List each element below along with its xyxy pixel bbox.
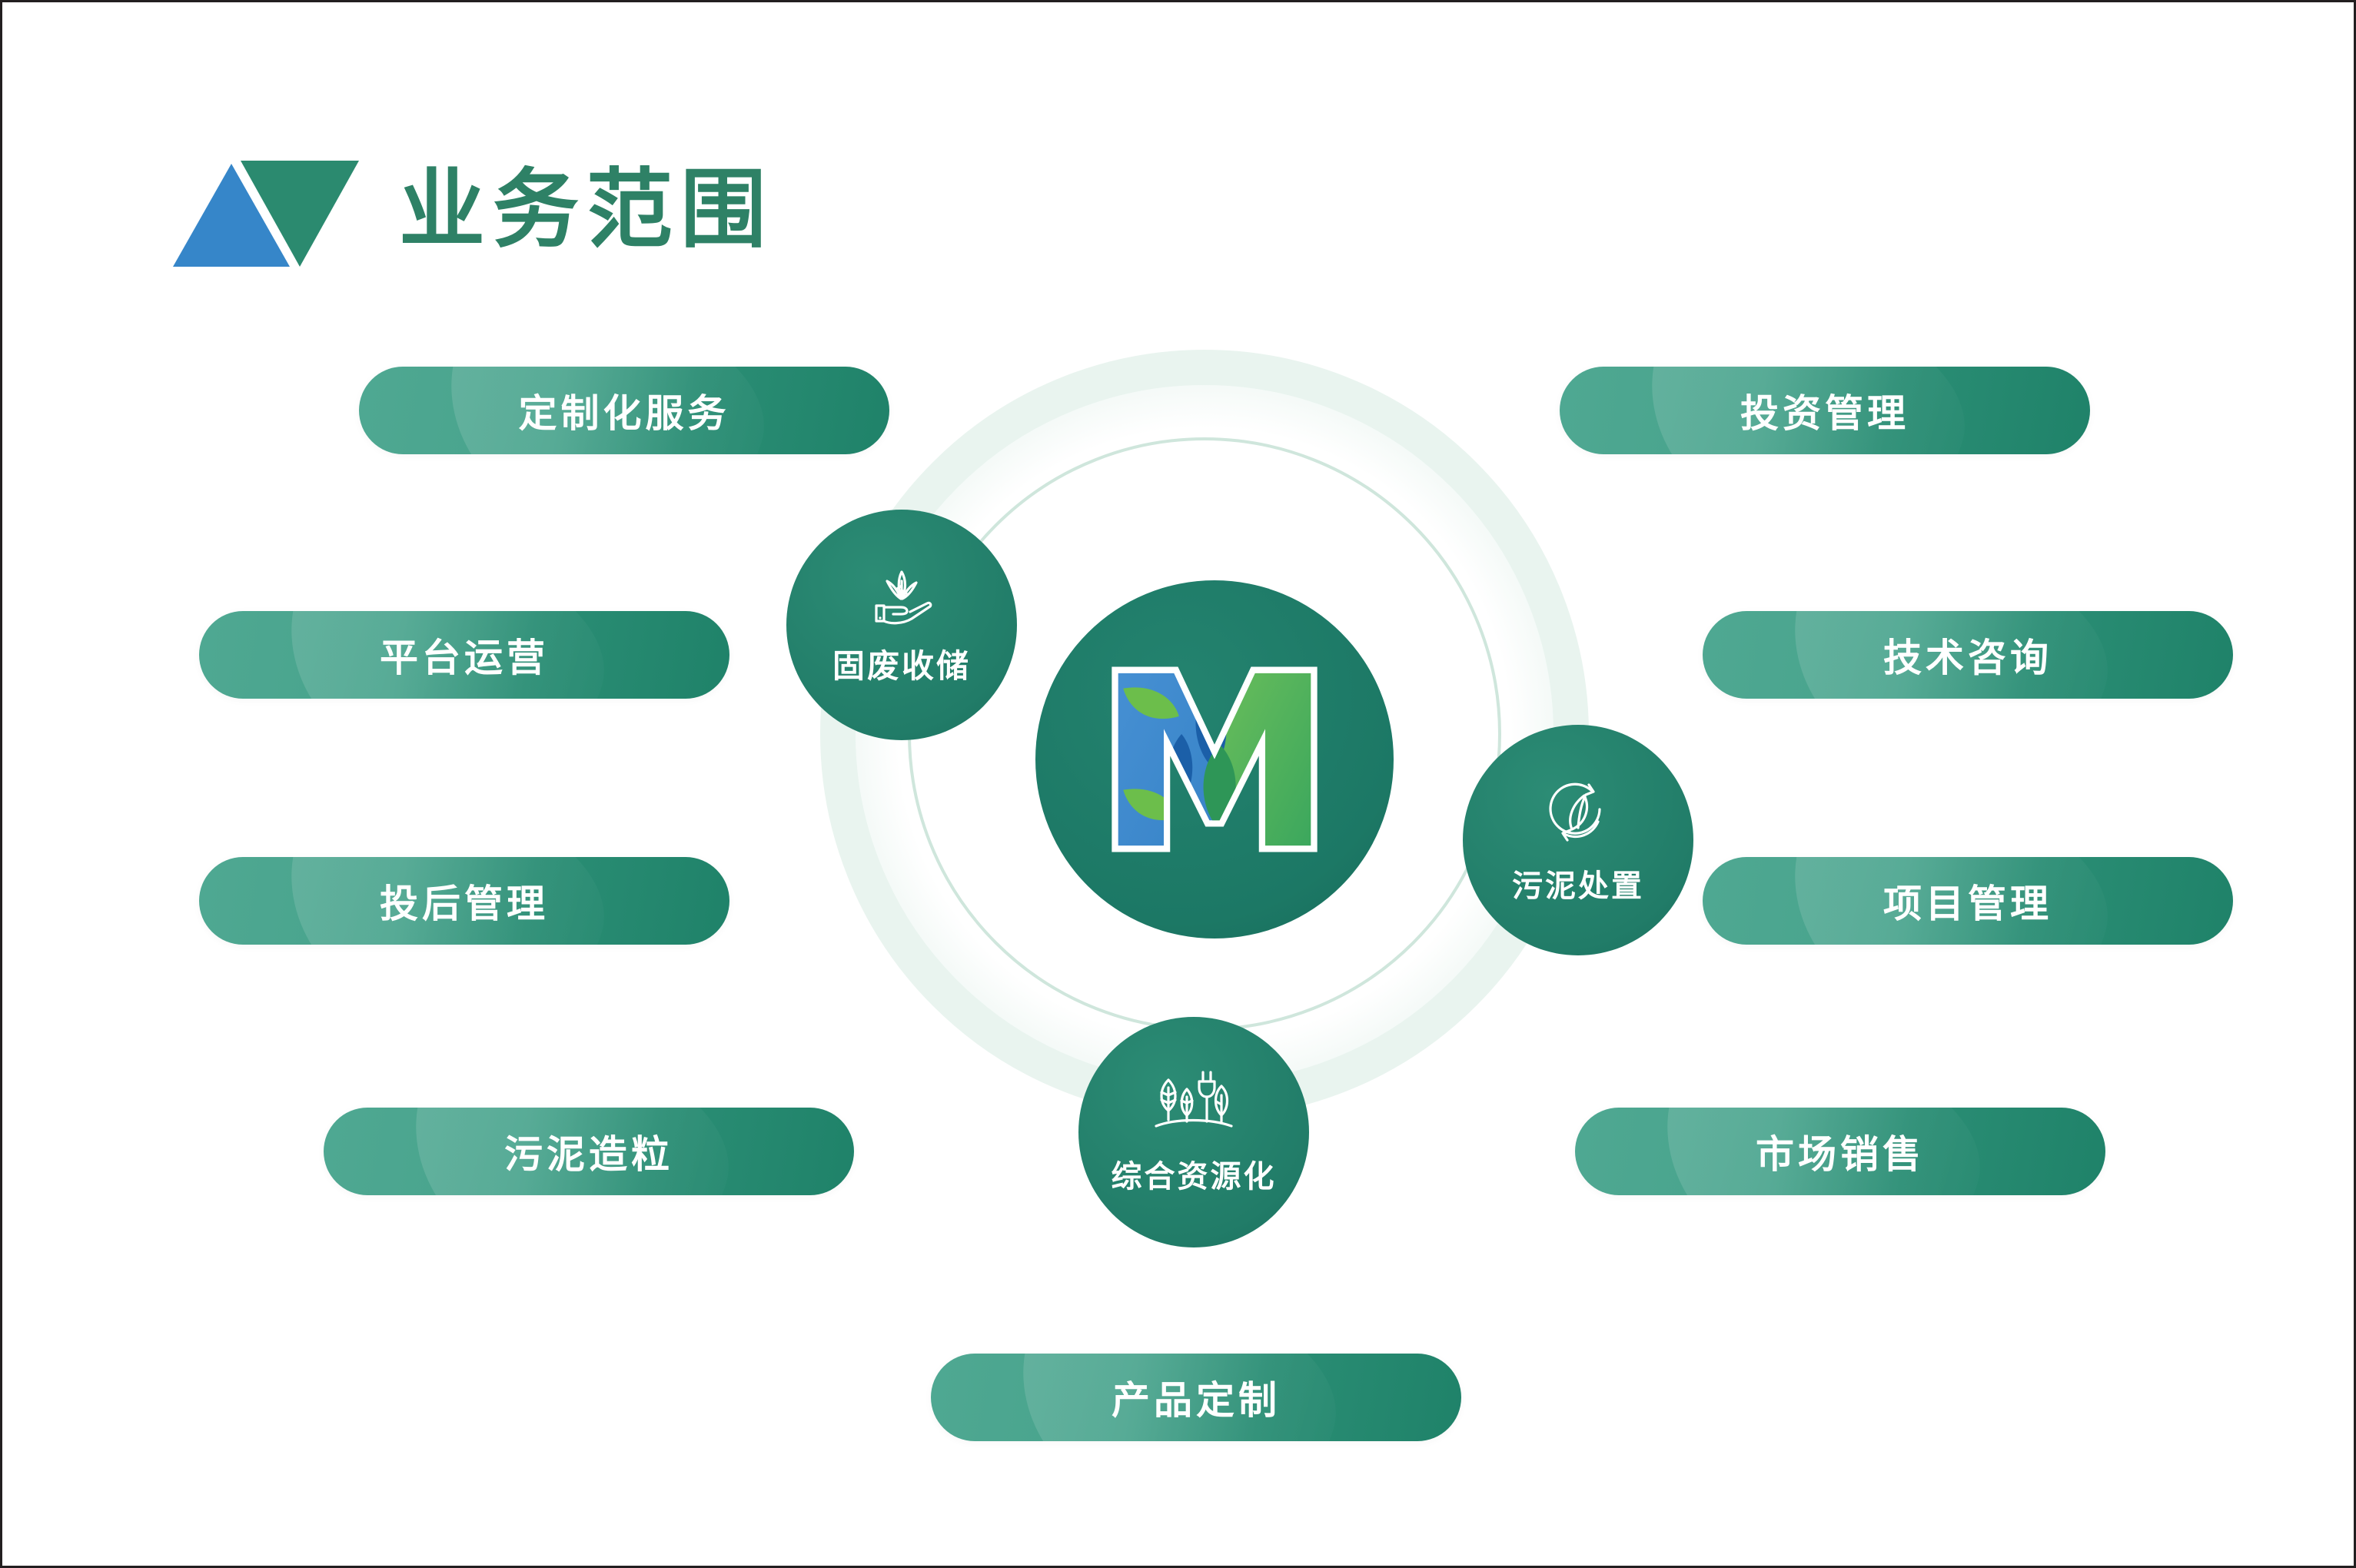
node-resource[interactable]: 综合资源化 (1078, 1017, 1309, 1247)
m-leaf-logo-icon (1088, 633, 1341, 886)
pill-platform-operation[interactable]: 平台运营 (199, 611, 729, 699)
pill-project-management[interactable]: 项目管理 (1703, 857, 2233, 945)
pill-label: 项目管理 (1883, 873, 2052, 929)
recycle-leaf-icon (1541, 776, 1615, 853)
pill-product-customization[interactable]: 产品定制 (931, 1354, 1461, 1441)
pill-sludge-granulation[interactable]: 污泥造粒 (324, 1108, 854, 1195)
page-title: 业务范围 (399, 167, 774, 253)
pill-label: 市场销售 (1756, 1124, 1925, 1179)
pill-label: 平台运营 (380, 627, 549, 683)
pill-label: 定制化服务 (519, 383, 730, 438)
pill-technical-consulting[interactable]: 技术咨询 (1703, 611, 2233, 699)
node-label: 固废收储 (832, 640, 971, 687)
green-inverted-triangle-icon (241, 161, 359, 267)
trees-power-plug-icon (1148, 1069, 1239, 1144)
pill-post-investment[interactable]: 投后管理 (199, 857, 729, 945)
header: 业务范围 (173, 153, 774, 267)
brand-triangle-logo-icon (173, 153, 359, 267)
hand-holding-leaves-icon (859, 563, 944, 633)
node-label: 污泥处置 (1512, 861, 1644, 905)
infographic-canvas: 业务范围 (0, 0, 2356, 1568)
pill-label: 投资管理 (1740, 383, 1909, 438)
pill-investment-management[interactable]: 投资管理 (1560, 367, 2090, 454)
pill-label: 投后管理 (380, 873, 549, 929)
center-hub (1035, 580, 1394, 938)
pill-custom-service[interactable]: 定制化服务 (359, 367, 889, 454)
node-label: 综合资源化 (1112, 1151, 1277, 1196)
node-sludge[interactable]: 污泥处置 (1463, 725, 1693, 955)
pill-label: 技术咨询 (1883, 627, 2052, 683)
pill-label: 污泥造粒 (504, 1124, 673, 1179)
pill-market-sales[interactable]: 市场销售 (1575, 1108, 2105, 1195)
pill-label: 产品定制 (1112, 1370, 1281, 1425)
node-solid-waste[interactable]: 固废收储 (786, 510, 1017, 740)
